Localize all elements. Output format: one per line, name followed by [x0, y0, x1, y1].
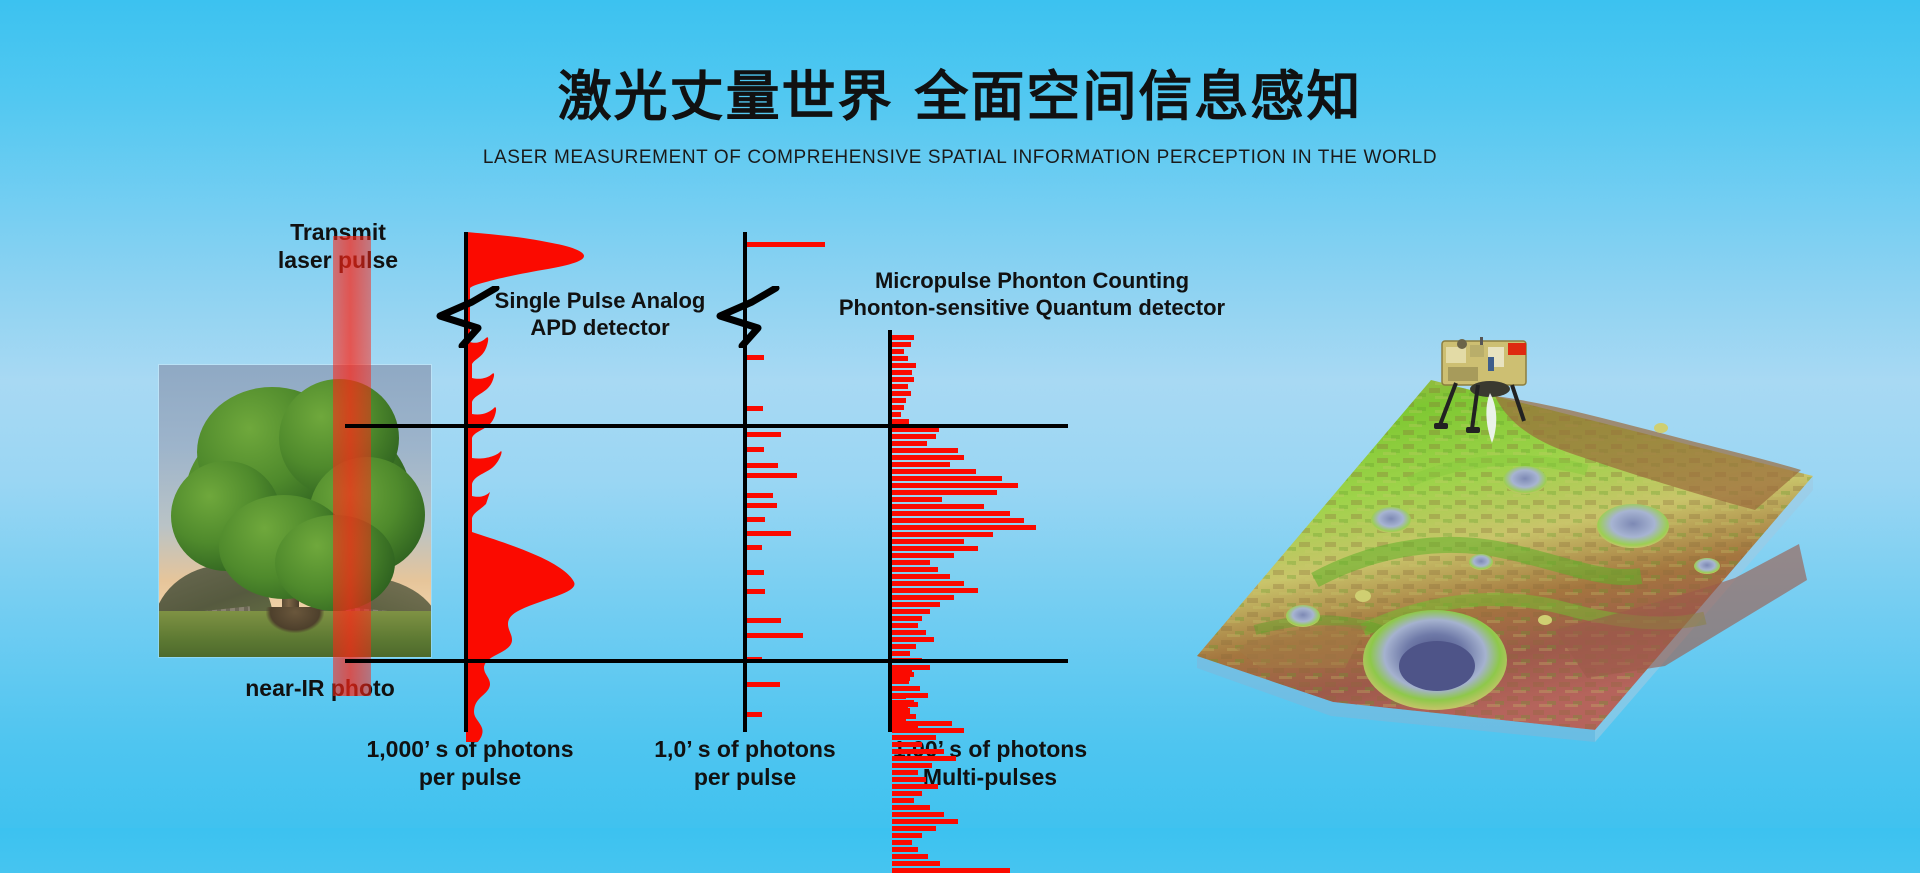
photon-return-spike — [892, 398, 906, 403]
photon-return-spike — [747, 712, 762, 717]
photon-return-spike — [892, 812, 944, 817]
photon-return-spike — [892, 511, 1010, 516]
lander-mast — [1480, 337, 1483, 345]
photon-return-spike — [892, 412, 901, 417]
lander-dish — [1457, 339, 1467, 349]
terrain-crater-tiny — [1694, 558, 1720, 574]
photon-return-spike — [892, 504, 984, 509]
caption-2-line2: per pulse — [635, 763, 855, 791]
reference-line-ground — [345, 659, 1068, 663]
photon-return-spike — [747, 545, 762, 550]
photon-return-spike — [747, 570, 764, 575]
photon-return-spike — [747, 463, 778, 468]
photon-return-spike — [892, 609, 930, 614]
photon-return-spike — [892, 777, 926, 782]
lander-panel — [1470, 345, 1484, 357]
photon-return-spike — [892, 735, 936, 740]
photon-return-spike — [892, 448, 958, 453]
lander-leg-left — [1440, 383, 1456, 425]
photon-return-spike — [892, 588, 978, 593]
terrain-crater-tiny — [1469, 554, 1493, 570]
china-flag-icon — [1508, 343, 1526, 355]
photon-return-spike — [892, 370, 912, 375]
photon-return-spike — [892, 710, 910, 715]
photon-return-spike — [747, 432, 781, 437]
photon-return-spike — [892, 742, 922, 747]
photon-return-spike — [747, 503, 777, 508]
photon-return-spike — [892, 490, 997, 495]
photon-return-spike — [892, 384, 908, 389]
photon-return-spike — [892, 377, 914, 382]
photon-return-spike — [892, 405, 904, 410]
photon-return-spike — [747, 242, 825, 247]
axis-break-icon-2 — [712, 286, 782, 348]
photon-return-spike — [892, 686, 914, 691]
photon-return-spike — [892, 434, 936, 439]
photon-return-spike — [892, 678, 908, 683]
lander-foot — [1434, 423, 1448, 429]
lunar-lander-icon — [1428, 337, 1540, 445]
terrain-crater-large-floor — [1399, 641, 1475, 691]
micropulse-label-line1: Micropulse Phonton Counting — [812, 268, 1252, 295]
lander-leg-right — [1512, 385, 1524, 421]
terrain-boulder — [1654, 423, 1668, 433]
photon-return-spike — [892, 644, 916, 649]
micropulse-label-line2: Phonton-sensitive Quantum detector — [812, 295, 1252, 322]
photon-return-spike — [747, 447, 764, 452]
photon-return-spike — [892, 826, 936, 831]
laser-beam — [333, 236, 371, 696]
photon-return-spike — [892, 391, 911, 396]
photon-return-spike — [892, 749, 944, 754]
photon-return-spike — [892, 670, 912, 675]
photon-return-spike — [892, 716, 906, 721]
photon-return-spike — [892, 602, 940, 607]
terrain-boulder — [1355, 590, 1371, 602]
photon-return-spike — [892, 546, 978, 551]
photon-return-spike — [892, 854, 928, 859]
terrain-crater-small — [1371, 507, 1411, 533]
lander-panel — [1446, 347, 1466, 363]
photon-return-spike — [892, 497, 942, 502]
terrain-crater-small — [1503, 466, 1547, 494]
photon-return-spike — [892, 784, 938, 789]
waveform-axis-3 — [888, 330, 892, 732]
photon-return-spike — [892, 637, 934, 642]
photon-return-spike — [747, 633, 803, 638]
photon-return-spike — [892, 335, 914, 340]
photon-return-spike — [747, 589, 765, 594]
caption-2-line1: 1,0’ s of photons — [635, 735, 855, 763]
photon-return-spike — [892, 616, 922, 621]
photon-return-spike — [892, 791, 922, 796]
photon-return-spike — [892, 356, 908, 361]
photon-return-spike — [747, 355, 764, 360]
photon-return-spike — [892, 349, 904, 354]
page-title: 激光丈量世界 全面空间信息感知 — [0, 52, 1920, 131]
photon-return-spike — [892, 483, 1018, 488]
photon-return-spike — [747, 531, 791, 536]
photon-return-spike — [892, 595, 954, 600]
photon-return-spike — [892, 763, 932, 768]
detector-label-micropulse: Micropulse Phonton Counting Phonton-sens… — [812, 268, 1252, 322]
photon-return-spike — [892, 455, 964, 460]
photon-return-spike — [747, 406, 763, 411]
caption-analog-apd: 1,000’ s of photons per pulse — [355, 735, 585, 791]
photon-return-spike — [892, 819, 958, 824]
axis-break-icon-1 — [432, 286, 502, 348]
photon-return-spike — [892, 861, 940, 866]
lander-instrument — [1488, 357, 1494, 371]
photon-return-spike — [892, 805, 930, 810]
lander-foot — [1466, 427, 1480, 433]
photon-return-spike — [892, 441, 927, 446]
photon-return-spike — [892, 840, 912, 845]
photon-return-spike — [747, 473, 797, 478]
photon-return-spike — [892, 462, 950, 467]
caption-sparse-photons: 1,0’ s of photons per pulse — [635, 735, 855, 791]
photon-return-spike — [892, 630, 926, 635]
page-subtitle: LASER MEASUREMENT OF COMPREHENSIVE SPATI… — [0, 147, 1920, 169]
photon-return-spike — [892, 532, 993, 537]
photon-return-spike — [892, 694, 906, 699]
photon-return-spike — [892, 833, 922, 838]
photon-return-spike — [892, 476, 1002, 481]
photon-return-spike — [747, 618, 781, 623]
photon-return-spike — [892, 342, 911, 347]
reference-line-canopy-top — [345, 424, 1068, 428]
terrain-crater-medium — [1597, 504, 1669, 548]
photon-return-spike — [892, 539, 964, 544]
photon-return-spike — [892, 363, 916, 368]
photon-return-spike — [892, 798, 914, 803]
terrain-boulder — [1538, 615, 1552, 625]
photon-return-spike — [892, 518, 1024, 523]
photon-return-spike — [892, 724, 918, 729]
photon-return-spike — [747, 517, 765, 522]
lander-panel — [1448, 367, 1478, 381]
photon-return-spike — [747, 493, 773, 498]
photo-tree-root — [266, 607, 324, 633]
photon-return-spike — [747, 682, 780, 687]
photon-return-spike — [892, 770, 918, 775]
photon-return-spike — [892, 702, 918, 707]
lander-exhaust-plume — [1486, 393, 1496, 443]
photon-return-spike — [892, 469, 976, 474]
photon-return-spike — [892, 560, 930, 565]
near-ir-photo-text: near-IR photo — [245, 675, 395, 701]
photon-return-spike — [892, 623, 918, 628]
photon-return-spike — [892, 574, 950, 579]
caption-1-line2: per pulse — [355, 763, 585, 791]
photon-return-spike — [892, 756, 956, 761]
near-ir-tree-photo — [159, 365, 431, 657]
photon-return-spike — [892, 847, 918, 852]
poster-stage: 激光丈量世界 全面空间信息感知 LASER MEASUREMENT OF COM… — [0, 0, 1920, 828]
photon-return-spike — [892, 553, 954, 558]
photon-return-spike — [892, 651, 910, 656]
photon-return-spike — [892, 525, 1036, 530]
near-ir-photo-label: near-IR photo — [205, 674, 435, 702]
photon-return-spike — [892, 868, 1010, 873]
photon-return-spike — [892, 567, 938, 572]
terrain-crater-small — [1286, 605, 1320, 627]
photon-return-spike — [892, 581, 964, 586]
